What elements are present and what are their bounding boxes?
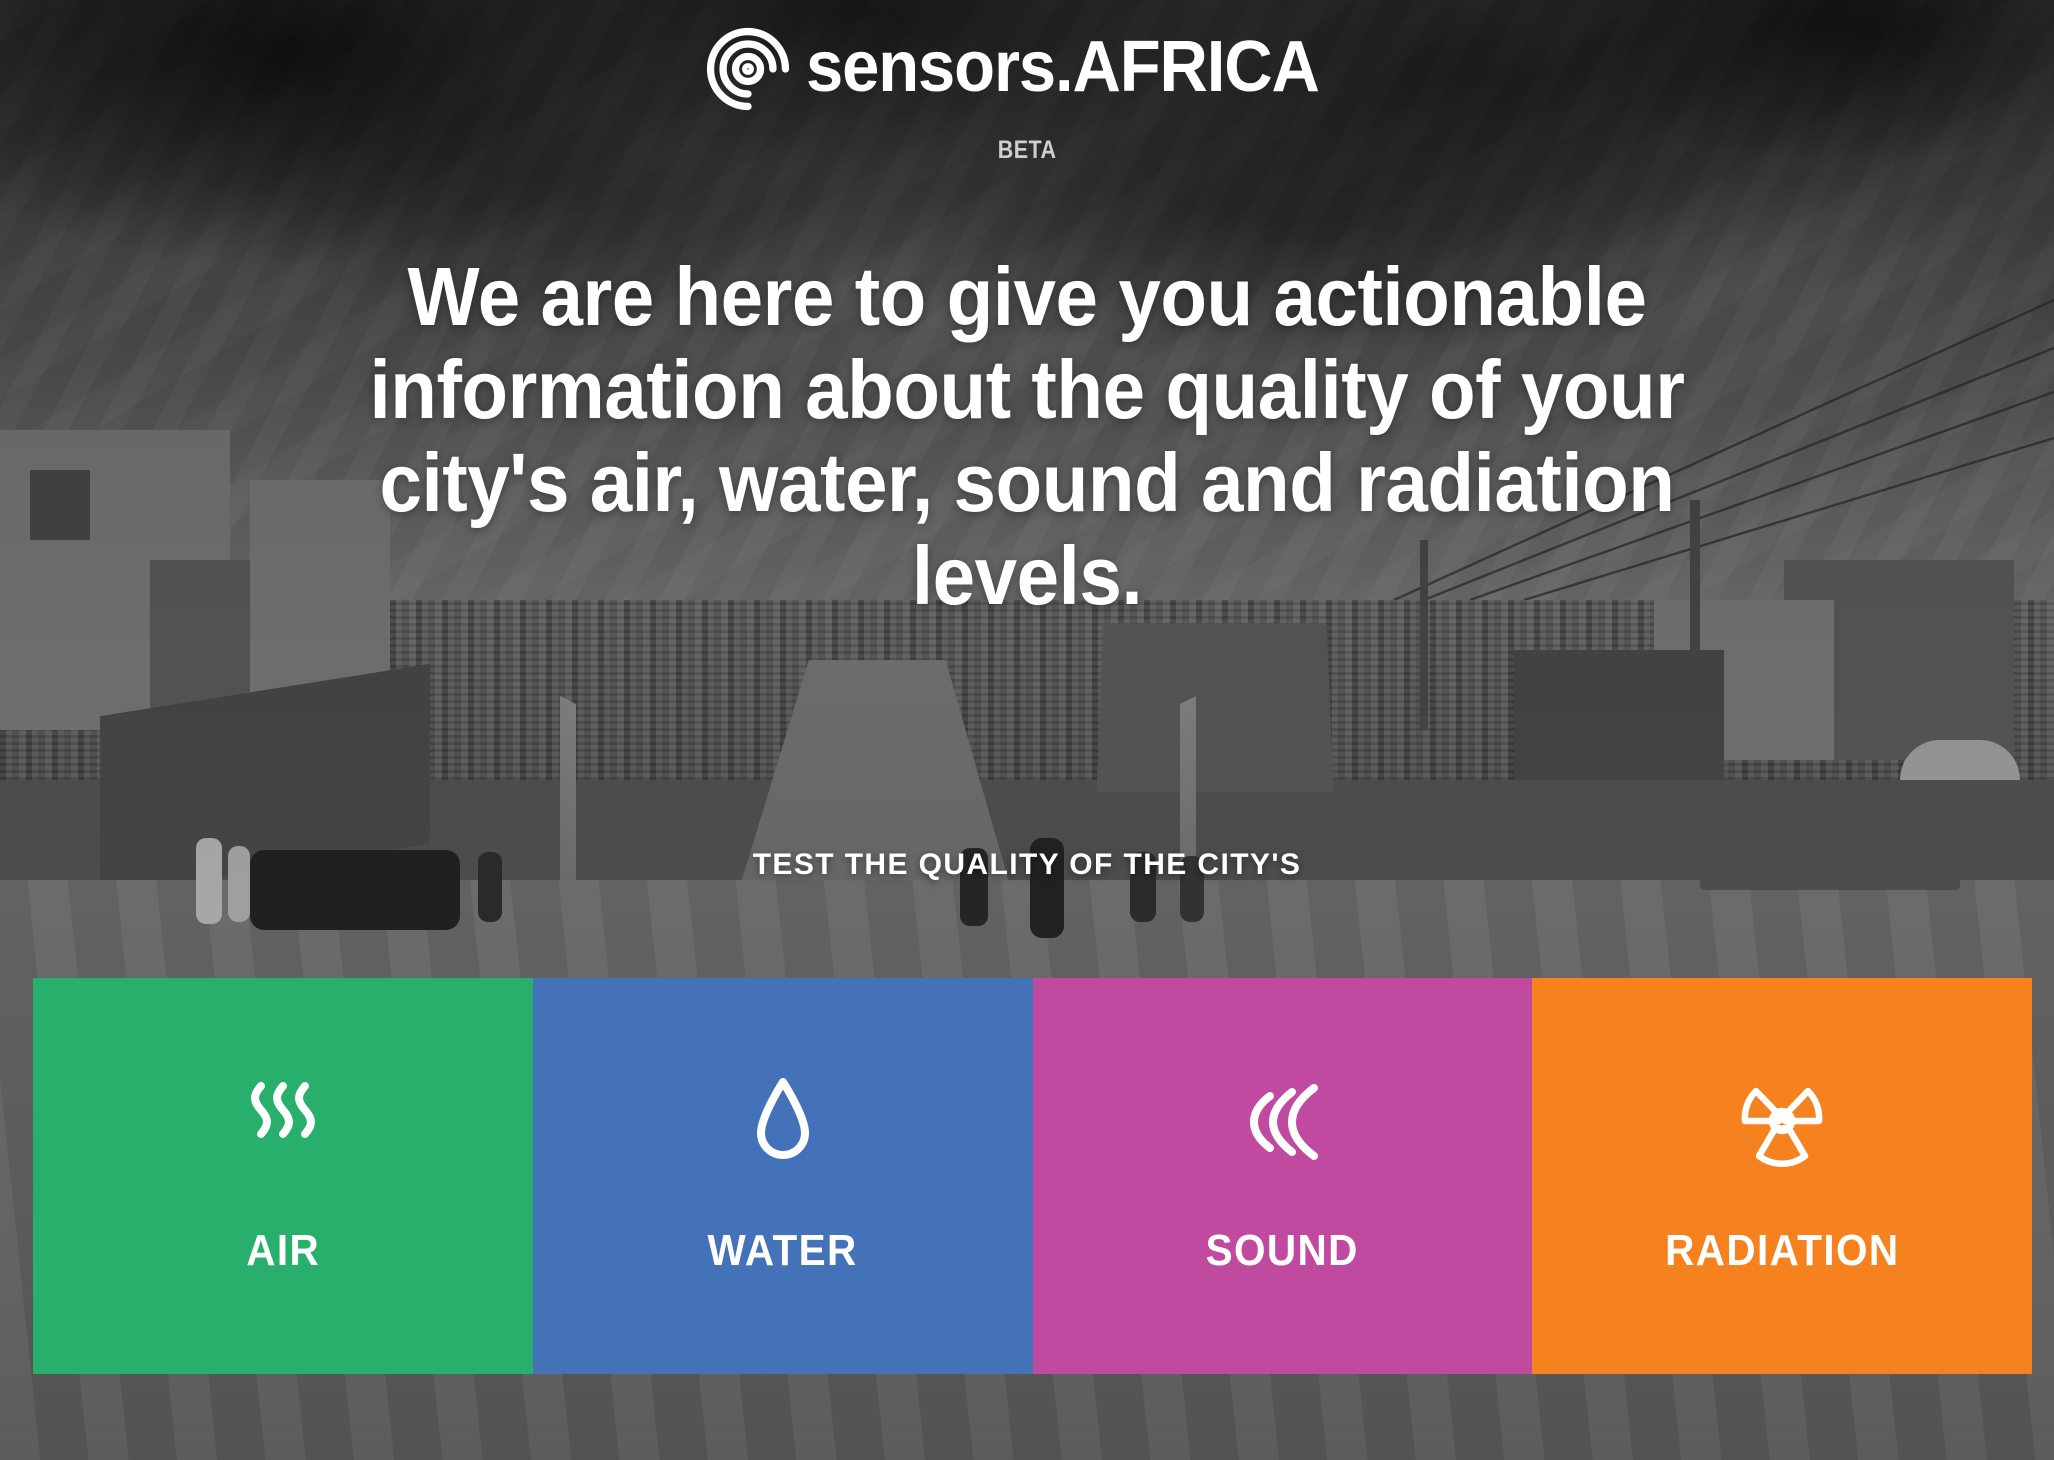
tile-sound-label: SOUND	[1206, 1226, 1359, 1276]
category-tiles: AIR WATER SOUND	[33, 978, 2032, 1374]
water-droplet-icon	[737, 1074, 829, 1170]
tile-air-label: AIR	[246, 1226, 320, 1276]
radar-spiral-icon	[696, 17, 800, 121]
tile-radiation[interactable]: RADIATION	[1532, 978, 2032, 1374]
tile-water-label: WATER	[708, 1226, 858, 1276]
section-subheading: TEST THE QUALITY OF THE CITY'S	[753, 848, 1302, 882]
radiation-trefoil-icon	[1736, 1074, 1828, 1170]
heat-waves-icon	[237, 1074, 329, 1170]
tile-air[interactable]: AIR	[33, 978, 533, 1374]
tile-radiation-label: RADIATION	[1665, 1226, 1899, 1276]
tile-sound[interactable]: SOUND	[1033, 978, 1533, 1374]
landing-page: sensors.AFRICA BETA We are here to give …	[0, 0, 2054, 1460]
site-logo[interactable]: sensors.AFRICA	[696, 2, 1357, 132]
sound-waves-icon	[1236, 1074, 1328, 1170]
beta-badge: BETA	[998, 136, 1057, 165]
tile-water[interactable]: WATER	[533, 978, 1033, 1374]
page-title: We are here to give you actionable infor…	[360, 251, 1694, 623]
logo-wordmark: sensors.AFRICA	[806, 31, 1319, 103]
